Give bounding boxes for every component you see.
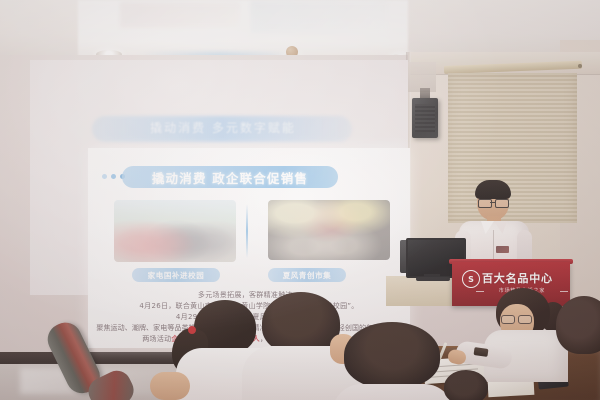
- audience-hair: [344, 322, 440, 388]
- projection-screen-area: 撬动消费 多元数字赋能 撬动消费 政企联合促销售 家电国补进校园 夏风青创市集 …: [30, 60, 408, 295]
- hair-tie-icon: [188, 326, 196, 334]
- ceiling-tile: [250, 0, 390, 34]
- slide-photo-row: [114, 200, 390, 262]
- presenter-name-badge: [496, 246, 509, 253]
- brand-logo-icon: S: [462, 270, 480, 288]
- slide-ghost-title-text: 撬动消费 多元数字赋能: [108, 120, 338, 136]
- monitor-base: [416, 277, 450, 281]
- audience-man-front-right: [330, 322, 456, 400]
- audience-hair: [444, 370, 488, 400]
- audience-partial-head-table: [444, 370, 490, 400]
- slide-caption-left: 家电国补进校园: [132, 268, 220, 282]
- presenter-hair: [475, 180, 511, 199]
- slide-photo-market-stage: [268, 200, 390, 260]
- audience-forearm: [150, 372, 190, 400]
- conference-room-photo: 撬动消费 多元数字赋能 撬动消费 政企联合促销售 家电国补进校园 夏风青创市集 …: [0, 0, 600, 400]
- audience-hair: [262, 292, 340, 354]
- audience-hair: [556, 296, 600, 354]
- audience-body: [332, 384, 454, 400]
- glasses-icon: [501, 315, 531, 322]
- glasses-icon: [478, 199, 508, 206]
- window-blind-knob: [578, 64, 582, 68]
- speaker-grill: [415, 104, 435, 132]
- podium-brand-name: 百大名品中心: [482, 270, 553, 286]
- slide-photo-divider: [246, 204, 248, 258]
- slide-photo-campus-event: [114, 200, 236, 262]
- slide-title: 撬动消费 政企联合促销售: [122, 166, 338, 188]
- audience-partial-head-right: [556, 296, 600, 358]
- ceiling-tile: [120, 2, 240, 28]
